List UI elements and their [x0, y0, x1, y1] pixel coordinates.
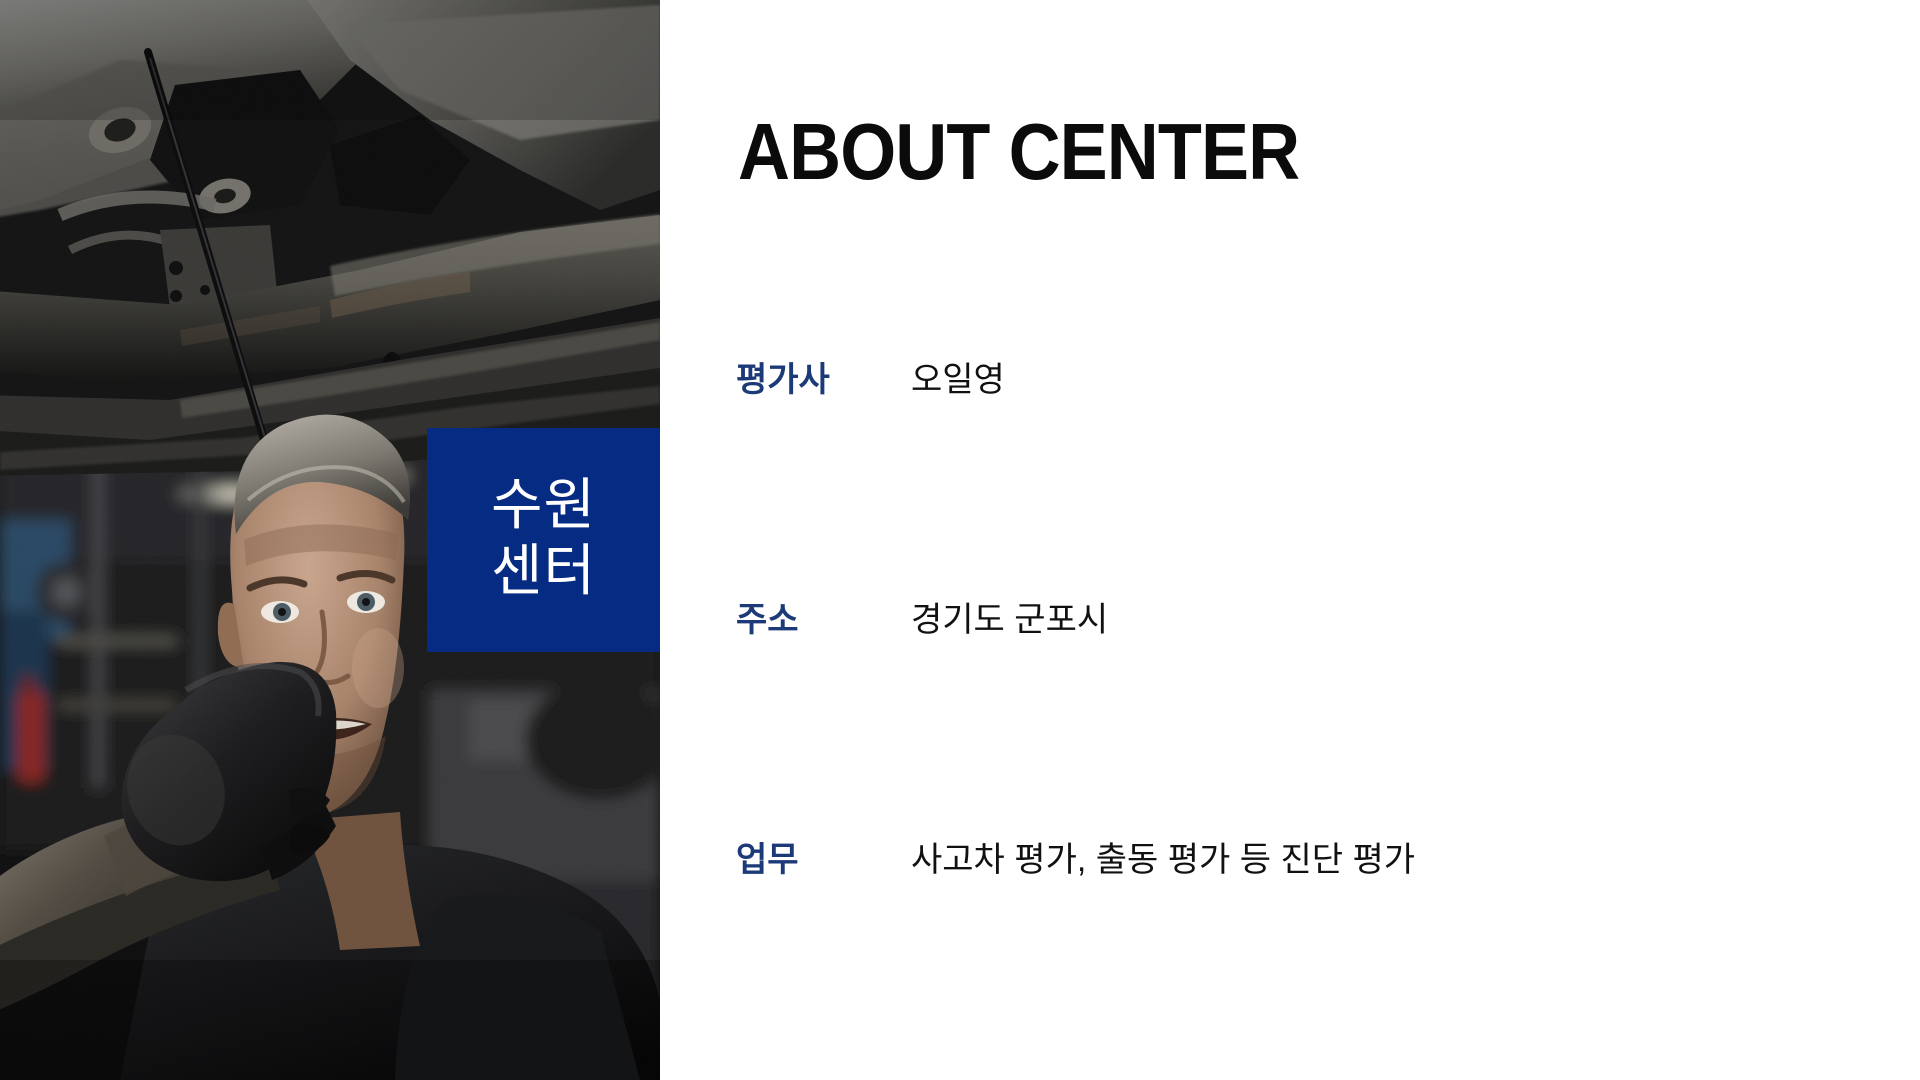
center-info-table: 평가사 오일영 주소 경기도 군포시 업무 사고차 평가, 출동 평가 등 진단…	[736, 358, 1856, 838]
about-center-slide: 수원 센터 ABOUT CENTER 평가사 오일영 주소 경기도 군포시 업무…	[0, 0, 1920, 1080]
info-value-service: 사고차 평가, 출동 평가 등 진단 평가	[911, 838, 1415, 884]
center-badge-line-2: 센터	[491, 538, 596, 604]
page-title: ABOUT CENTER	[738, 112, 1299, 192]
photo-panel: 수원 센터	[0, 0, 660, 1080]
center-badge: 수원 센터	[427, 428, 660, 652]
info-row-address: 주소 경기도 군포시	[736, 598, 1856, 838]
info-value-evaluator: 오일영	[911, 358, 1005, 404]
content-panel: ABOUT CENTER 평가사 오일영 주소 경기도 군포시 업무 사고차 평…	[660, 0, 1920, 1080]
info-label-evaluator: 평가사	[736, 358, 830, 404]
info-row-evaluator: 평가사 오일영	[736, 358, 1856, 598]
info-label-address: 주소	[736, 598, 799, 644]
center-badge-line-1: 수원	[491, 472, 596, 538]
info-value-address: 경기도 군포시	[911, 598, 1108, 644]
info-label-service: 업무	[736, 838, 799, 884]
